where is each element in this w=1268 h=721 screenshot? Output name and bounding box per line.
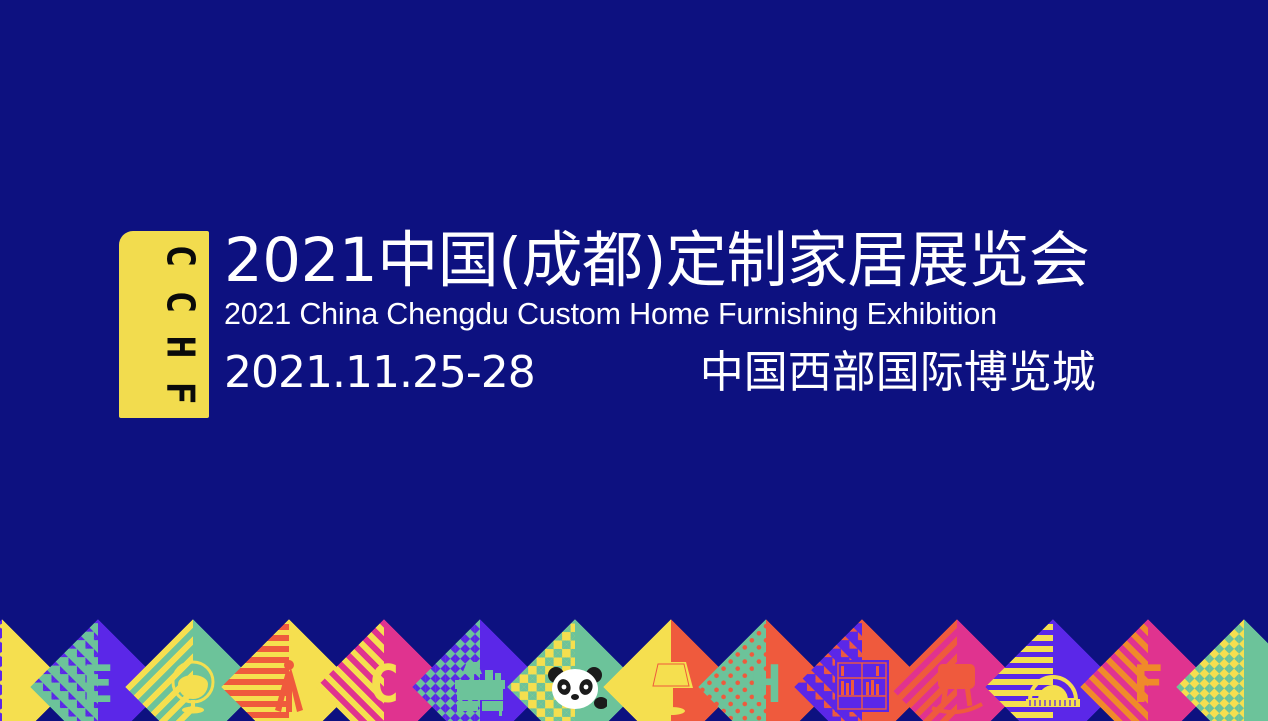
cchf-logo-badge: C C H F xyxy=(119,231,209,418)
cchf-logo-letters: C C H F xyxy=(157,237,203,412)
logo-letter-4: F xyxy=(161,382,199,405)
poster-canvas: C C H F 2021中国(成都)定制家居展览会 2021 China Che… xyxy=(0,0,1268,721)
masthead-text: 2021中国(成都)定制家居展览会 2021 China Chengdu Cus… xyxy=(224,231,1149,418)
event-date: 2021.11.25-28 xyxy=(224,348,535,398)
logo-letter-2: C xyxy=(161,290,199,313)
page-title-cn: 2021中国(成都)定制家居展览会 xyxy=(224,229,1149,292)
event-info-row: 2021.11.25-28 中国西部国际博览城 xyxy=(224,348,1149,398)
masthead: C C H F 2021中国(成都)定制家居展览会 2021 China Che… xyxy=(119,231,1149,421)
event-venue: 中国西部国际博览城 xyxy=(700,348,1096,398)
logo-letter-3: H xyxy=(161,336,199,359)
logo-letter-1: C xyxy=(161,245,199,268)
page-title-en: 2021 China Chengdu Custom Home Furnishin… xyxy=(224,294,1149,334)
decorative-diamond-band: ECHF xyxy=(0,609,1268,721)
